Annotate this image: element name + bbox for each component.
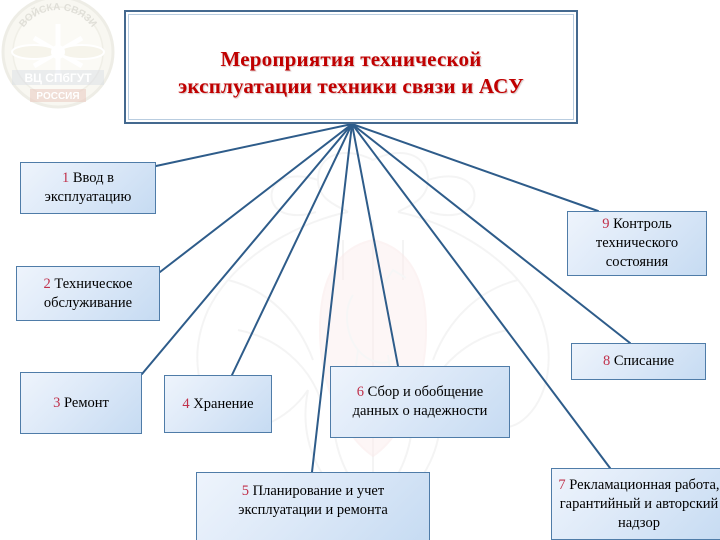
node-label: Ремонт	[64, 395, 109, 411]
node-number: 5	[242, 483, 249, 499]
process-node-8[interactable]: 8 Списание	[571, 343, 706, 380]
node-number: 6	[357, 384, 364, 400]
connector-to-node-2	[160, 124, 352, 272]
slide-title-box: Мероприятия технической эксплуатации тех…	[124, 10, 578, 124]
process-node-9[interactable]: 9 Контроль технического состояния	[567, 211, 707, 276]
node-label: Хранение	[193, 396, 253, 412]
node-number: 1	[62, 170, 69, 186]
node-label: Списание	[614, 353, 674, 369]
page-title: Мероприятия технической эксплуатации тех…	[126, 46, 576, 100]
process-node-5[interactable]: 5 Планирование и учет эксплуатации и рем…	[196, 472, 430, 540]
node-number: 7	[558, 477, 565, 493]
process-node-2[interactable]: 2 Техническое обслуживание	[16, 266, 160, 321]
node-number: 8	[603, 353, 610, 369]
svg-text:РОССИЯ: РОССИЯ	[36, 91, 79, 102]
node-label: Планирование и учет эксплуатации и ремон…	[238, 483, 388, 518]
node-number: 4	[182, 396, 189, 412]
node-number: 3	[53, 395, 60, 411]
connector-to-node-6	[352, 124, 398, 366]
process-node-4[interactable]: 4 Хранение	[164, 375, 272, 433]
process-node-3[interactable]: 3 Ремонт	[20, 372, 142, 434]
node-number: 9	[602, 216, 609, 232]
military-emblem-icon: ВОЙСКА СВЯЗИ ВЦ СПбГУТ РОССИЯ	[0, 0, 124, 116]
connector-to-node-3	[142, 124, 352, 374]
node-label: Контроль технического состояния	[596, 216, 678, 270]
process-node-7[interactable]: 7 Рекламационная работа, гарантийный и а…	[551, 468, 720, 540]
node-label: Сбор и обобщение данных о надежности	[353, 384, 488, 419]
node-number: 2	[44, 276, 51, 292]
process-node-6[interactable]: 6 Сбор и обобщение данных о надежности	[330, 366, 510, 438]
node-label: Рекламационная работа, гарантийный и авт…	[560, 477, 720, 531]
connector-to-node-4	[232, 124, 352, 375]
node-label: Ввод в эксплуатацию	[45, 170, 132, 205]
connector-to-node-1	[156, 124, 352, 166]
process-node-1[interactable]: 1 Ввод в эксплуатацию	[20, 162, 156, 214]
title-line-2: эксплуатации техники связи и АСУ	[178, 74, 524, 98]
svg-text:ВОЙСКА СВЯЗИ: ВОЙСКА СВЯЗИ	[17, 2, 98, 30]
svg-text:ВЦ СПбГУТ: ВЦ СПбГУТ	[24, 71, 92, 85]
slide-canvas: ВОЙСКА СВЯЗИ ВЦ СПбГУТ РОССИЯ	[0, 0, 720, 540]
connector-to-node-9	[352, 124, 598, 211]
title-line-1: Мероприятия технической	[221, 47, 482, 71]
node-label: Техническое обслуживание	[44, 276, 133, 311]
